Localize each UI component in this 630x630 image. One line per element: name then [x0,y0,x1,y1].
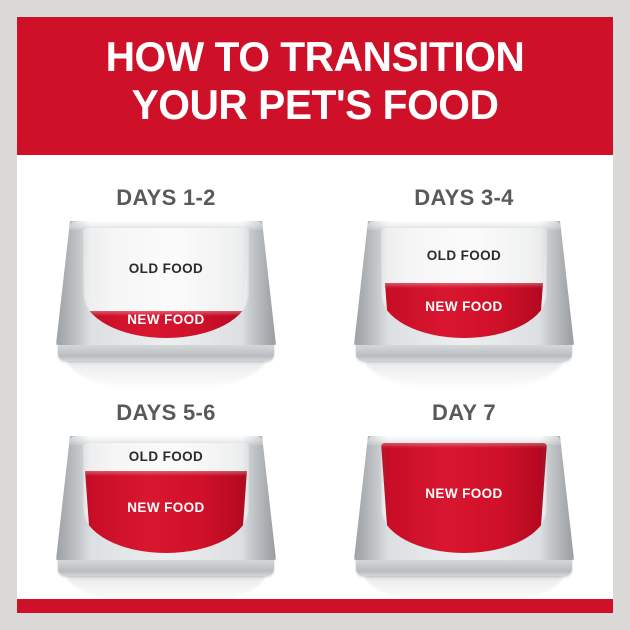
footer-red-bar [17,599,613,613]
food-bowl-3: OLD FOOD NEW FOOD [56,436,276,586]
food-bowl-4: NEW FOOD [354,436,574,586]
new-food-label-3: NEW FOOD [83,500,249,515]
step-label-1: DAYS 1-2 [17,185,315,211]
step-label-2: DAYS 3-4 [315,185,613,211]
new-food-label-1: NEW FOOD [83,312,249,327]
food-well-inner: NEW FOOD [381,443,547,553]
new-food-portion-2: NEW FOOD [381,283,547,338]
old-food-portion-2: OLD FOOD [381,228,547,283]
infographic-poster: HOW TO TRANSITION YOUR PET'S FOOD DAYS 1… [17,17,613,613]
food-well-2: OLD FOOD NEW FOOD [381,228,547,338]
food-bowl-2: OLD FOOD NEW FOOD [354,221,574,371]
step-card-3: DAYS 5-6 OLD FOOD NEW FOOD [17,378,315,593]
new-food-label-4: NEW FOOD [381,486,547,501]
steps-grid: DAYS 1-2 OLD FOOD NEW FOOD [17,155,613,595]
food-well-inner: OLD FOOD NEW FOOD [83,443,249,553]
old-food-label-3: OLD FOOD [83,449,249,464]
new-food-portion-3: NEW FOOD [83,471,249,554]
step-card-4: DAY 7 NEW FOOD [315,378,613,593]
new-food-portion-4: NEW FOOD [381,443,547,553]
food-well-3: OLD FOOD NEW FOOD [83,443,249,553]
step-card-1: DAYS 1-2 OLD FOOD NEW FOOD [17,163,315,378]
step-label-3: DAYS 5-6 [17,400,315,426]
old-food-portion-1: OLD FOOD [83,228,249,311]
food-bowl-1: OLD FOOD NEW FOOD [56,221,276,371]
old-food-label-2: OLD FOOD [381,248,547,263]
page-title: HOW TO TRANSITION YOUR PET'S FOOD [26,33,604,129]
food-well-inner: OLD FOOD NEW FOOD [381,228,547,338]
old-food-portion-3: OLD FOOD [83,443,249,471]
new-food-portion-1: NEW FOOD [83,311,249,339]
food-well-inner: OLD FOOD NEW FOOD [83,228,249,338]
new-food-label-2: NEW FOOD [381,299,547,314]
step-label-4: DAY 7 [315,400,613,426]
header-banner: HOW TO TRANSITION YOUR PET'S FOOD [17,17,613,155]
old-food-label-1: OLD FOOD [83,261,249,276]
food-well-1: OLD FOOD NEW FOOD [83,228,249,338]
food-well-4: NEW FOOD [381,443,547,553]
step-card-2: DAYS 3-4 OLD FOOD NEW FOOD [315,163,613,378]
